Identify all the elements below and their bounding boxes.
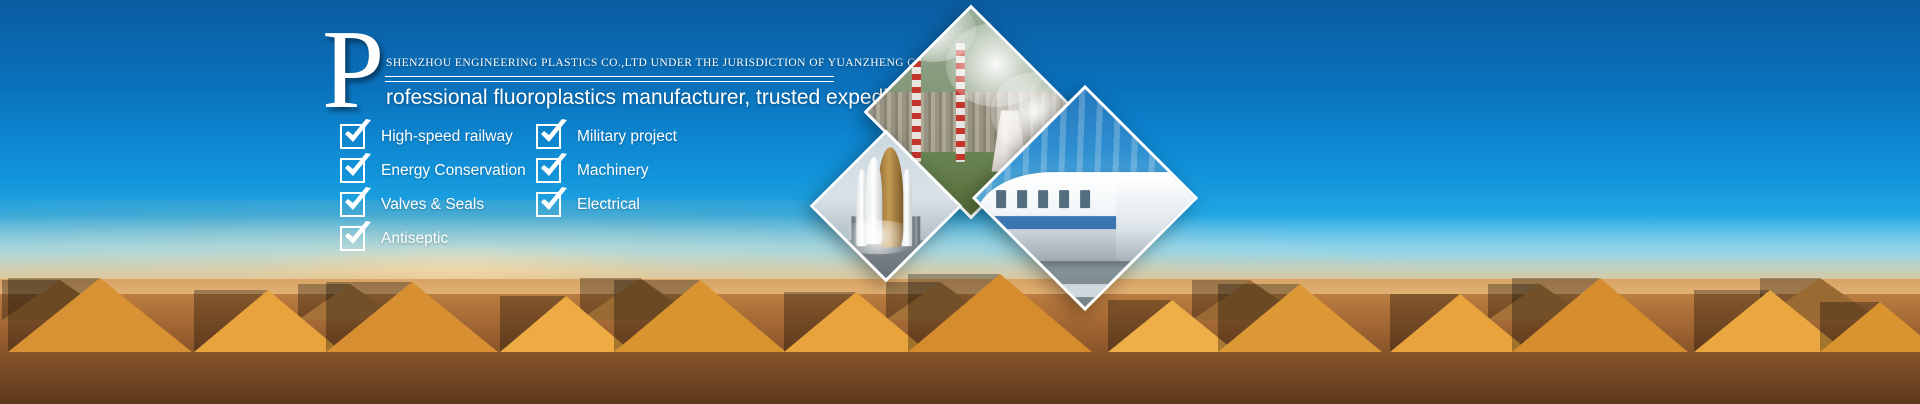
pyramid [326,282,498,352]
pyramid [1108,300,1236,352]
feature-item[interactable]: Energy Conservation [340,158,526,183]
checkbox-checked-icon[interactable] [340,158,365,183]
pyramid [1512,278,1688,352]
feature-item[interactable]: Electrical [536,192,640,217]
checkbox-checked-icon[interactable] [340,226,365,251]
checkbox-checked-icon[interactable] [536,124,561,149]
pyramid [500,296,632,352]
company-name-line: SHENZHOU ENGINEERING PLASTICS CO.,LTD UN… [386,57,949,69]
feature-label: Antiseptic [381,230,448,248]
headline-divider [385,76,834,82]
pyramid [614,280,786,352]
checkbox-checked-icon[interactable] [536,192,561,217]
feature-label: Energy Conservation [381,162,526,180]
pyramid [194,290,342,352]
feature-item[interactable]: Antiseptic [340,226,448,251]
feature-label: Electrical [577,196,640,214]
feature-item[interactable]: Military project [536,124,677,149]
promo-banner: P SHENZHOU ENGINEERING PLASTICS CO.,LTD … [0,0,1920,404]
feature-label: Military project [577,128,677,146]
feature-label: High-speed railway [381,128,513,146]
pyramid-layer [0,204,1920,404]
feature-label: Machinery [577,162,649,180]
pyramid [1390,294,1530,352]
checkbox-checked-icon[interactable] [536,158,561,183]
feature-item[interactable]: Machinery [536,158,649,183]
pyramid [1218,284,1382,352]
pyramid [784,292,928,352]
checkbox-checked-icon[interactable] [340,124,365,149]
logo-letter-p: P [322,14,382,126]
checkbox-checked-icon[interactable] [340,192,365,217]
pyramid [1820,302,1920,352]
feature-label: Valves & Seals [381,196,484,214]
feature-item[interactable]: High-speed railway [340,124,513,149]
pyramid [8,278,192,352]
feature-item[interactable]: Valves & Seals [340,192,484,217]
